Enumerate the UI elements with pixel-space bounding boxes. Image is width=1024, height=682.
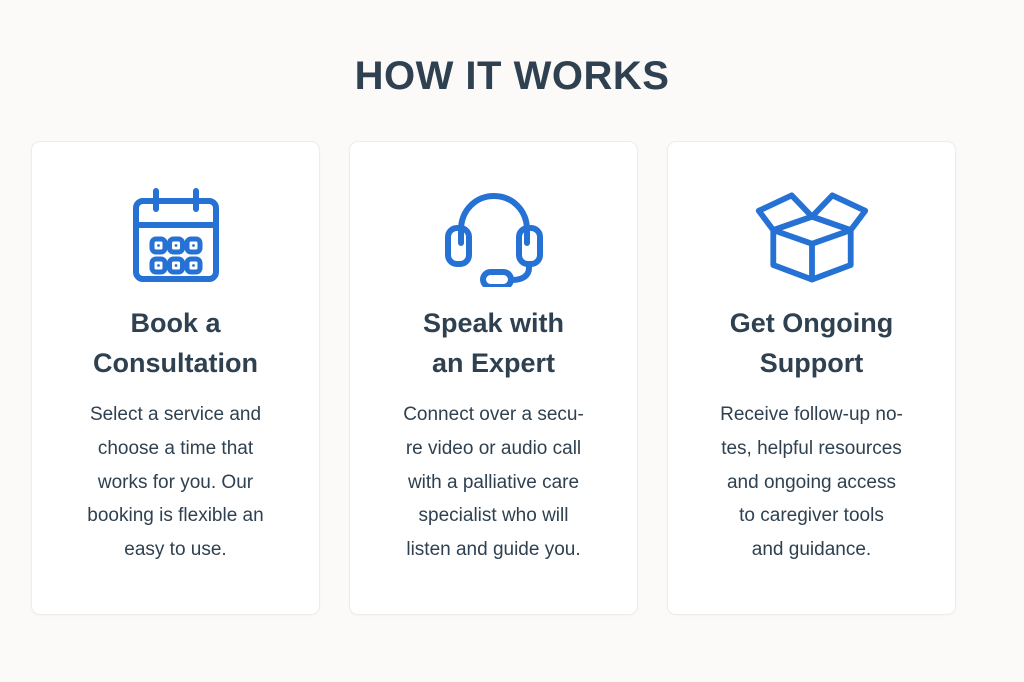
card-title: Get Ongoing Support [714, 304, 909, 384]
card-book-a-consultation[interactable]: Book a Consultation Select a service and… [31, 141, 320, 615]
card-list: Book a Consultation Select a service and… [31, 141, 956, 615]
card-speak-with-an-expert[interactable]: Speak with an Expert Connect over a secu… [349, 141, 638, 615]
card-get-ongoing-support[interactable]: Get Ongoing Support Receive follow-up no… [667, 141, 956, 615]
open-box-icon [752, 180, 872, 290]
card-body: Connect over a secu- re video or audio c… [385, 398, 602, 567]
calendar-icon [116, 180, 236, 290]
card-title: Speak with an Expert [407, 304, 580, 384]
page-title: HOW IT WORKS [0, 54, 1024, 98]
card-title: Book a Consultation [77, 304, 274, 384]
card-body: Select a service and choose a time that … [69, 398, 281, 567]
headset-icon [434, 180, 554, 290]
card-body: Receive follow-up no- tes, helpful resou… [702, 398, 921, 567]
how-it-works-section: HOW IT WORKS [0, 0, 1024, 682]
